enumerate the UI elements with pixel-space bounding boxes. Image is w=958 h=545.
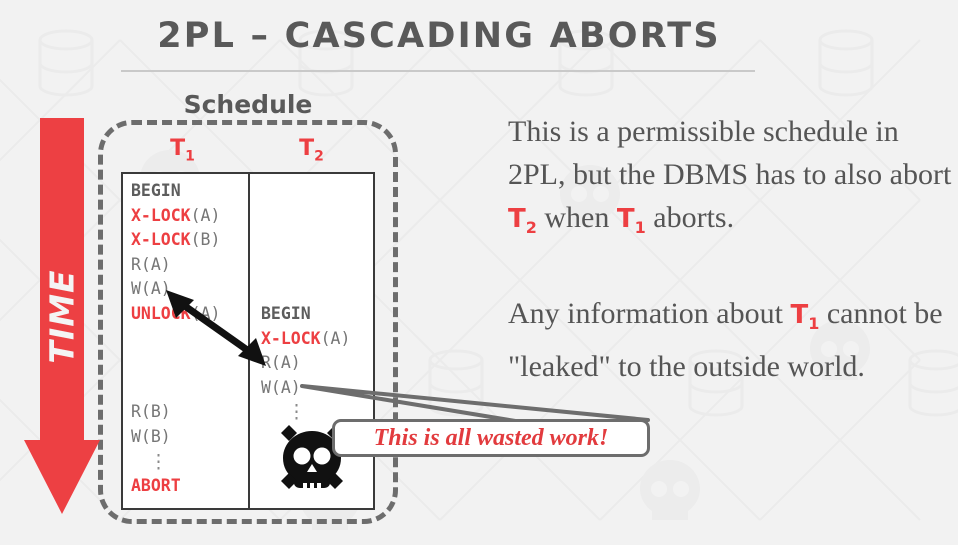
op-row-ellipsis: ⋮ — [131, 450, 248, 475]
txn-inline-t2: T2 — [508, 204, 537, 234]
txn-inline-t1-second: T1 — [790, 300, 819, 330]
op-row-blank — [261, 179, 373, 204]
op-row: R(A) — [261, 351, 373, 376]
op-row-blank — [261, 253, 373, 278]
op-row: X-LOCK(A) — [261, 327, 373, 352]
op-row-blank — [131, 376, 248, 401]
op-row-abort: ABORT — [131, 474, 248, 499]
txn-header-t2: T2 — [247, 138, 376, 163]
txn-header-t1-sub: 1 — [185, 148, 195, 164]
schedule-heading: Schedule — [98, 90, 398, 119]
time-arrow-icon — [24, 118, 100, 514]
txn-inline-t1: T1 — [617, 204, 646, 234]
op-row-blank — [261, 277, 373, 302]
op-row: X-LOCK(A) — [131, 204, 248, 229]
op-row: X-LOCK(B) — [131, 228, 248, 253]
title-divider — [121, 70, 755, 72]
op-row: BEGIN — [261, 302, 373, 327]
page-title: 2PL – CASCADING ABORTS — [0, 16, 878, 56]
txn-header-t1-letter: T — [170, 136, 185, 161]
callout-box: This is all wasted work! — [332, 419, 650, 457]
op-row-blank — [261, 204, 373, 229]
op-row-blank — [261, 228, 373, 253]
body-paragraph-1: This is a permissible schedule in 2PL, b… — [508, 110, 958, 249]
callout-text: This is all wasted work! — [374, 425, 609, 452]
body-paragraph-2: Any information about T1 cannot be "leak… — [508, 292, 958, 388]
op-row: R(A) — [131, 253, 248, 278]
txn-header-t2-sub: 2 — [314, 148, 324, 164]
op-row: R(B) — [131, 400, 248, 425]
double-headed-arrow-icon — [160, 284, 272, 372]
txn-header-t2-letter: T — [299, 136, 314, 161]
op-row: W(B) — [131, 425, 248, 450]
body-text: This is a permissible schedule in 2PL, b… — [508, 110, 958, 388]
txn-header-t1: T1 — [118, 138, 247, 163]
transaction-headers: T1 T2 — [118, 138, 376, 163]
op-row: BEGIN — [131, 179, 248, 204]
